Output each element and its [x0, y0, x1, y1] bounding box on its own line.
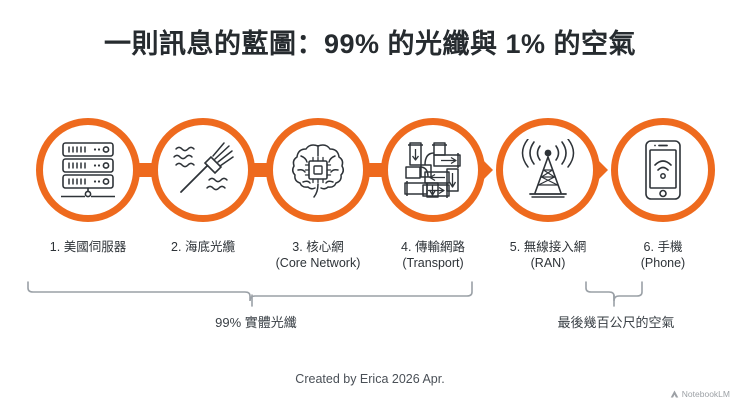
- label-zh: 4. 傳輸網路: [401, 240, 465, 254]
- pipeline-node-6[interactable]: [611, 118, 715, 222]
- page-title: 一則訊息的藍圖：99% 的光纖與 1% 的空氣: [0, 22, 740, 61]
- label-zh: 2. 海底光纜: [171, 240, 235, 254]
- server-rack-icon: [36, 118, 140, 222]
- footer-credit: Created by Erica 2026 Apr.: [0, 372, 740, 386]
- pipeline-label-3: 3. 核心網 (Core Network): [253, 239, 383, 271]
- pipeline-node-5[interactable]: [496, 118, 600, 222]
- label-zh: 3. 核心網: [292, 240, 343, 254]
- pipeline-label-2: 2. 海底光纜: [138, 239, 268, 255]
- pipeline-label-1: 1. 美國伺服器: [18, 239, 158, 255]
- smartphone-wifi-icon: [611, 118, 715, 222]
- label-en: (Core Network): [253, 255, 383, 271]
- pipeline-node-4[interactable]: [381, 118, 485, 222]
- label-zh: 5. 無線接入網: [510, 240, 586, 254]
- pipeline-node-1[interactable]: [36, 118, 140, 222]
- pipeline-label-6: 6. 手機 (Phone): [598, 239, 728, 271]
- label-zh: 1. 美國伺服器: [50, 240, 126, 254]
- pipeline-node-2[interactable]: [151, 118, 255, 222]
- undersea-fiber-cable-icon: [151, 118, 255, 222]
- slide-canvas: 一則訊息的藍圖：99% 的光纖與 1% 的空氣: [0, 0, 740, 412]
- pipeline-label-5: 5. 無線接入網 (RAN): [483, 239, 613, 271]
- pipeline-label-4: 4. 傳輸網路 (Transport): [368, 239, 498, 271]
- air-group-brace: [584, 281, 648, 307]
- fiber-group-label: 99% 實體光纖: [116, 312, 396, 331]
- label-zh: 6. 手機: [644, 240, 683, 254]
- air-group-label: 最後幾百公尺的空氣: [506, 312, 726, 331]
- fiber-group-brace: [26, 281, 478, 307]
- pipeline-node-3[interactable]: [266, 118, 370, 222]
- label-en: (RAN): [483, 255, 613, 271]
- notebooklm-label: NotebookLM: [682, 389, 730, 399]
- notebooklm-logo-icon: [670, 390, 679, 399]
- pipe-network-icon: [381, 118, 485, 222]
- notebooklm-watermark: NotebookLM: [670, 389, 730, 399]
- label-en: (Transport): [368, 255, 498, 271]
- brain-chip-icon: [266, 118, 370, 222]
- radio-tower-icon: [496, 118, 600, 222]
- label-en: (Phone): [598, 255, 728, 271]
- pipeline-diagram: [0, 118, 740, 228]
